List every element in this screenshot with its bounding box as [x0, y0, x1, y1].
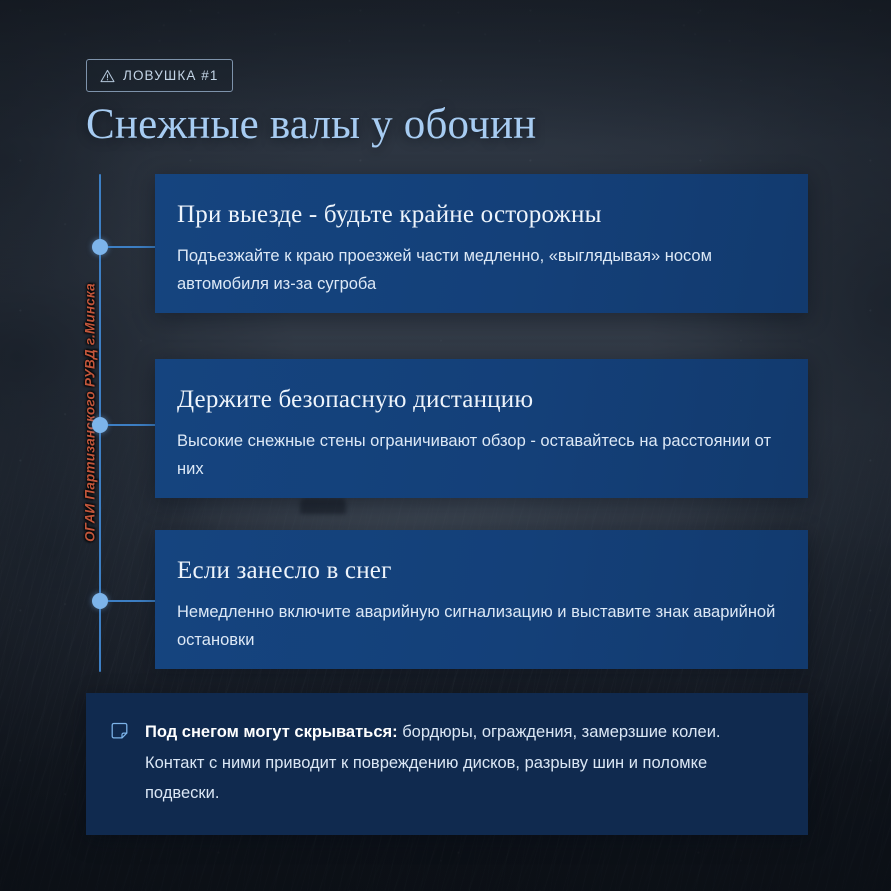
trap-badge-label: ЛОВУШКА #1 [123, 68, 219, 83]
warning-triangle-icon [100, 69, 115, 83]
content-root: ЛОВУШКА #1 Снежные валы у обочин ОГАИ Па… [0, 0, 891, 891]
hidden-hazards-note: Под снегом могут скрываться: бордюры, ог… [86, 693, 808, 835]
advice-card: Держите безопасную дистанцию Высокие сне… [155, 359, 808, 498]
advice-card-title: При выезде - будьте крайне осторожны [177, 200, 778, 230]
advice-card-text: Немедленно включите аварийную сигнализац… [177, 598, 777, 655]
advice-card: Если занесло в снег Немедленно включите … [155, 530, 808, 669]
page-title: Снежные валы у обочин [86, 100, 536, 149]
hidden-hazards-note-text: Под снегом могут скрываться: бордюры, ог… [145, 717, 778, 809]
advice-card-title: Держите безопасную дистанцию [177, 385, 778, 415]
timeline-connector-2 [108, 424, 156, 426]
advice-card: При выезде - будьте крайне осторожны Под… [155, 174, 808, 313]
advice-card-text: Подъезжайте к краю проезжей части медлен… [177, 242, 777, 299]
agency-watermark: ОГАИ Партизанского РУВД г.Минска [83, 283, 98, 543]
advice-card-title: Если занесло в снег [177, 556, 778, 586]
trap-badge: ЛОВУШКА #1 [86, 59, 233, 92]
timeline-dot-2 [92, 417, 108, 433]
infographic-canvas: ЛОВУШКА #1 Снежные валы у обочин ОГАИ Па… [0, 0, 891, 891]
timeline-dot-3 [92, 593, 108, 609]
hidden-hazards-note-lead: Под снегом могут скрываться: [145, 723, 398, 741]
timeline-connector-3 [108, 600, 156, 602]
sticky-note-icon [110, 722, 129, 746]
advice-card-text: Высокие снежные стены ограничивают обзор… [177, 427, 777, 484]
timeline-connector-1 [108, 246, 156, 248]
timeline-dot-1 [92, 239, 108, 255]
